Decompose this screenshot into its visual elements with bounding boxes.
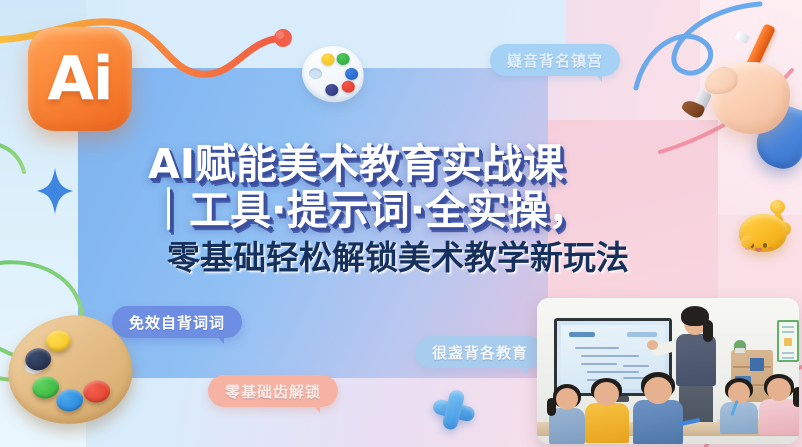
classroom-photo — [537, 298, 799, 444]
badge-mid-left[interactable]: 免效自背词词 — [112, 306, 242, 338]
photo-screen-toolbar-right — [627, 332, 657, 337]
mascot-mouth — [755, 248, 762, 252]
palette-board — [1, 308, 139, 432]
badge-bottom-left[interactable]: 零基础齿解锁 — [208, 375, 338, 407]
photo-student — [633, 372, 683, 442]
yellow-blob-mascot-icon — [739, 200, 797, 256]
mascot-antenna-ball — [770, 200, 785, 214]
wooden-artist-palette-icon — [1, 308, 139, 432]
course-banner: Ai AI赋能美术教育实战课 ｜工具·提示词·全实操， 零基础轻松解锁美术教学新… — [0, 0, 802, 447]
hand-holding-paintbrush-icon — [660, 10, 802, 170]
ai-logo: Ai — [28, 27, 132, 131]
paintbrush-ring — [735, 31, 751, 45]
photo-screen-toolbar-left — [569, 332, 595, 337]
photo-student — [585, 378, 629, 442]
badge-top-right-label: 嶷音背名镇宫 — [507, 50, 603, 71]
badge-mid-left-label: 免效自背词词 — [129, 312, 225, 333]
blue-3d-cross-icon — [429, 386, 479, 435]
mascot-cheek-right — [768, 247, 773, 250]
photo-wall-poster — [777, 320, 799, 362]
photo-flowerpot — [735, 348, 745, 353]
photo-teacher-hand — [647, 340, 658, 350]
photo-books-upper — [750, 358, 764, 371]
photo-student — [549, 384, 585, 442]
badge-top-right[interactable]: 嶷音背名镇宫 — [490, 44, 620, 76]
photo-student — [759, 374, 799, 432]
title-line-3: 零基础轻松解锁美术教学新玩法 — [148, 237, 648, 279]
badge-bottom-mid-label: 很盏背各教育 — [432, 342, 528, 363]
mascot-eye-right — [763, 243, 767, 248]
title-line-1: AI赋能美术教育实战课 — [148, 142, 648, 186]
photo-teacher-ponytail — [703, 320, 713, 342]
photo-student — [720, 378, 758, 430]
mascot-ear-left — [741, 236, 753, 248]
badge-bottom-left-label: 零基础齿解锁 — [225, 381, 321, 402]
ai-logo-label: Ai — [47, 49, 112, 109]
badge-bottom-mid[interactable]: 很盏背各教育 — [415, 336, 545, 368]
banner-title: AI赋能美术教育实战课 ｜工具·提示词·全实操， 零基础轻松解锁美术教学新玩法 — [148, 142, 648, 279]
white-artist-palette-icon — [299, 43, 367, 105]
title-line-2: ｜工具·提示词·全实操， — [148, 186, 648, 234]
